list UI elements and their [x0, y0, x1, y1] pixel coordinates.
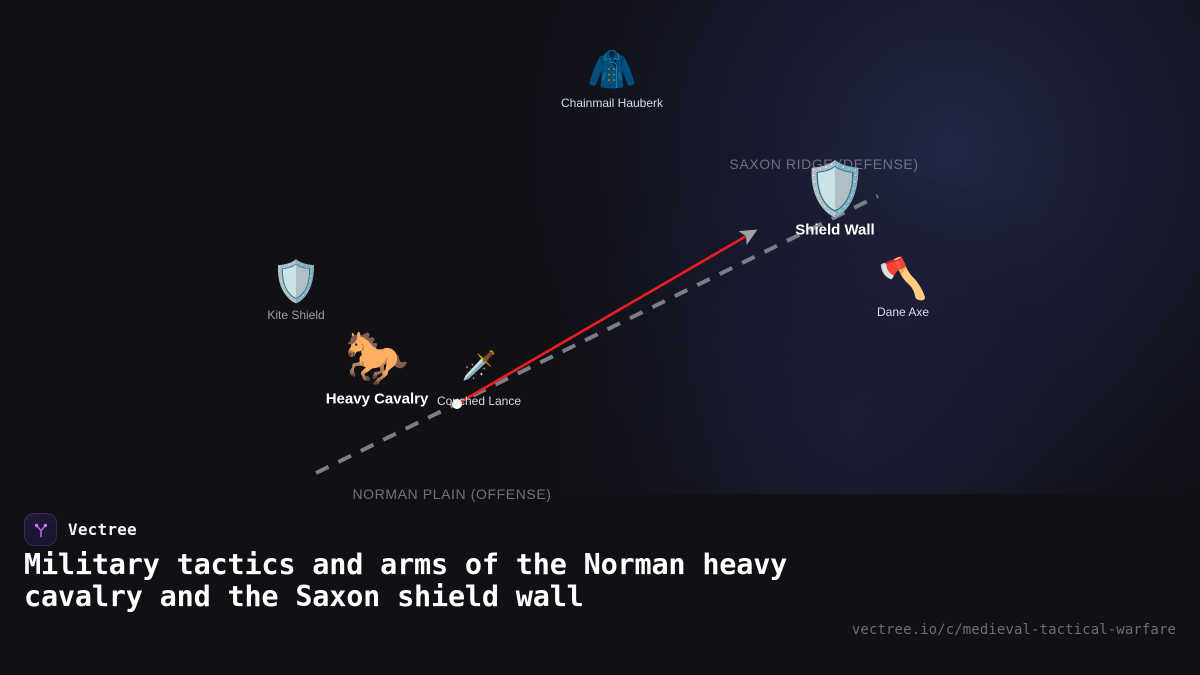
node-label-dane-axe: Dane Axe [877, 305, 929, 319]
node-label-couched-lance: Couched Lance [437, 394, 521, 408]
brand-name: Vectree [68, 520, 137, 539]
node-label-shield-wall: Shield Wall [795, 222, 874, 239]
node-heavy-cavalry[interactable]: 🐎 Heavy Cavalry [326, 333, 429, 408]
dagger-icon: 🗡️ [437, 352, 521, 380]
axe-icon: 🪓 [877, 259, 929, 299]
shield-icon: 🛡️ [795, 164, 874, 216]
node-label-heavy-cavalry: Heavy Cavalry [326, 391, 429, 408]
shield-icon: 🛡️ [267, 262, 324, 302]
source-url: vectree.io/c/medieval-tactical-warfare [852, 622, 1176, 638]
infographic-canvas: SAXON RIDGE (DEFENSE) NORMAN PLAIN (OFFE… [0, 0, 1200, 675]
vectree-branch-logo [24, 513, 57, 546]
node-shield-wall[interactable]: 🛡️ Shield Wall [795, 164, 874, 239]
node-label-kite-shield: Kite Shield [267, 308, 324, 322]
node-label-chainmail-hauberk: Chainmail Hauberk [561, 96, 663, 110]
headline: Military tactics and arms of the Norman … [24, 549, 824, 613]
branch-glyph [31, 520, 51, 540]
node-dane-axe[interactable]: 🪓 Dane Axe [877, 259, 929, 319]
node-kite-shield[interactable]: 🛡️ Kite Shield [267, 262, 324, 322]
brand-row: Vectree [24, 513, 137, 546]
horse-icon: 🐎 [326, 333, 429, 385]
node-chainmail-hauberk[interactable]: 🧥 Chainmail Hauberk [561, 50, 663, 110]
zone-label-norman-plain: NORMAN PLAIN (OFFENSE) [352, 486, 551, 502]
coat-icon: 🧥 [561, 50, 663, 90]
node-couched-lance[interactable]: 🗡️ Couched Lance [437, 352, 521, 408]
